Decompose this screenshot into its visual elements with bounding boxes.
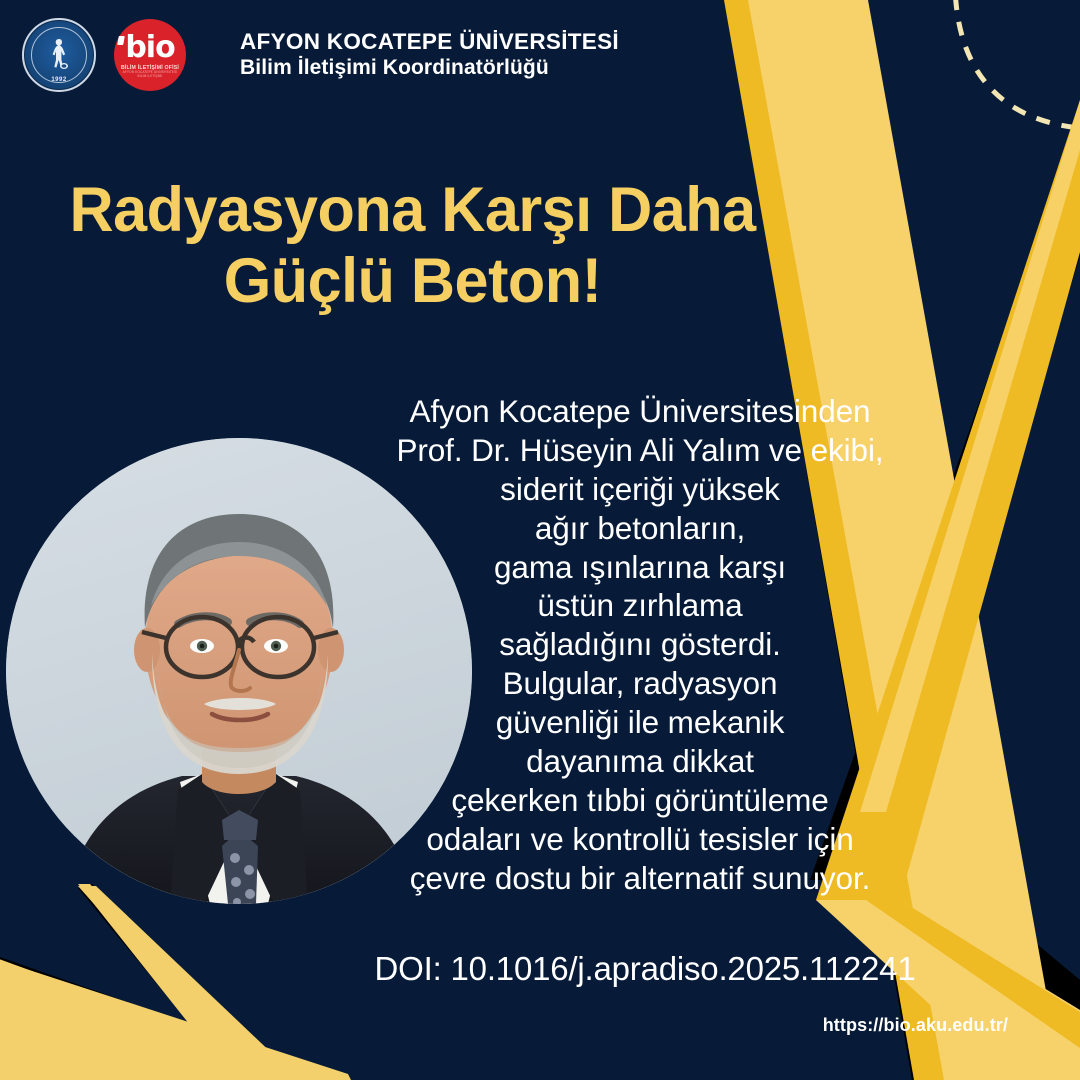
- website-url[interactable]: https://bio.aku.edu.tr/: [823, 1015, 1008, 1036]
- bottom-left-needle: [78, 884, 268, 1080]
- bio-logo-subtitle-small: AFYON KOCATEPE ÜNİVERSİTESİ BİLİM İLETİŞ…: [120, 71, 180, 79]
- poster-canvas: 1992 bio BİLİM İLETİŞİMİ OFİSİ AFYON KOC…: [0, 0, 1080, 1080]
- bottom-left-arrow-blade: [0, 952, 348, 1080]
- summary-line: Afyon Kocatepe Üniversitesinden: [360, 392, 920, 431]
- summary-line: odaları ve kontrollü tesisler için: [360, 820, 920, 859]
- summary-line: güvenliği ile mekanik: [360, 703, 920, 742]
- summary-line: çekerken tıbbi görüntüleme: [360, 781, 920, 820]
- summary-line: gama ışınlarına karşı: [360, 548, 920, 587]
- bio-logo-wordmark: bio: [125, 33, 174, 63]
- summary-line: çevre dostu bir alternatif sunuyor.: [360, 859, 920, 898]
- page-title: Radyasyona Karşı Daha Güçlü Beton!: [44, 175, 781, 316]
- dashed-arc-decoration: [955, 0, 1080, 128]
- summary-line: ağır betonların,: [360, 509, 920, 548]
- brand-header: 1992 bio BİLİM İLETİŞİMİ OFİSİ AFYON KOC…: [22, 18, 619, 92]
- summary-line: üstün zırhlama: [360, 586, 920, 625]
- summary-line: sağladığını gösterdi.: [360, 625, 920, 664]
- article-summary: Afyon Kocatepe Üniversitesinden Prof. Dr…: [360, 392, 920, 898]
- summary-line: Prof. Dr. Hüseyin Ali Yalım ve ekibi,: [360, 431, 920, 470]
- summary-line: Bulgular, radyasyon: [360, 664, 920, 703]
- header-department-name: Bilim İletişimi Koordinatörlüğü: [240, 55, 619, 80]
- title-line-1: Radyasyona Karşı Daha: [44, 175, 781, 246]
- title-line-2: Güçlü Beton!: [44, 246, 781, 317]
- summary-line: siderit içeriği yüksek: [360, 470, 920, 509]
- header-titles: AFYON KOCATEPE ÜNİVERSİTESİ Bilim İletiş…: [240, 29, 619, 80]
- university-seal-icon: 1992: [22, 18, 96, 92]
- seal-figure-icon: [47, 37, 71, 71]
- header-university-name: AFYON KOCATEPE ÜNİVERSİTESİ: [240, 29, 619, 55]
- doi-reference: DOI: 10.1016/j.apradiso.2025.112241: [345, 950, 945, 988]
- seal-year: 1992: [24, 77, 94, 83]
- summary-line: dayanıma dikkat: [360, 742, 920, 781]
- bottom-left-arrow-large: [0, 960, 320, 1080]
- bio-logo-icon: bio BİLİM İLETİŞİMİ OFİSİ AFYON KOCATEPE…: [114, 19, 186, 91]
